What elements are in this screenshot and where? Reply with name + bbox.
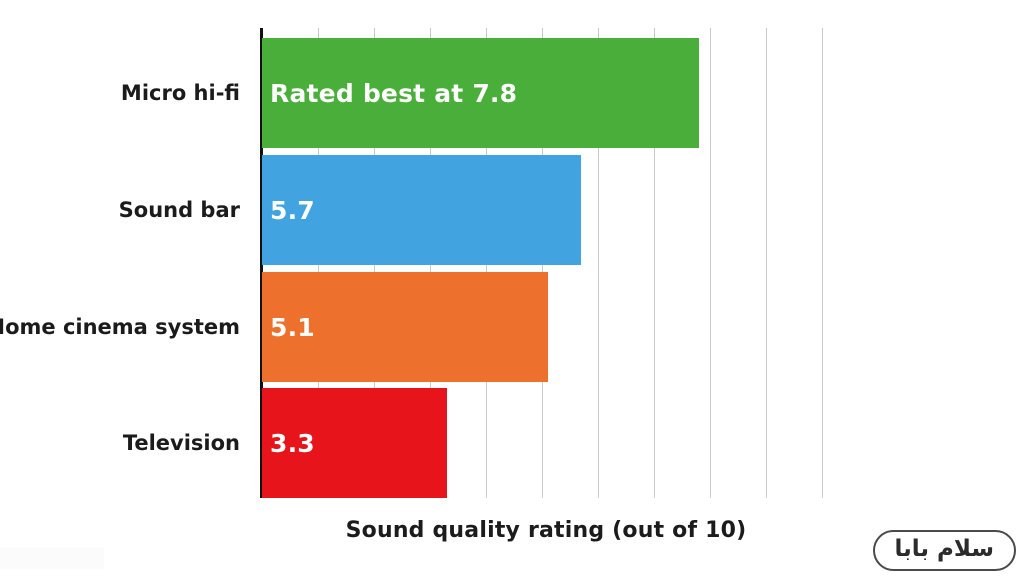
bars-layer: Rated best at 7.8 5.7 5.1 3.3 — [262, 0, 862, 579]
bar-micro-hi-fi[interactable]: Rated best at 7.8 — [262, 38, 699, 148]
corner-artifact — [0, 547, 104, 569]
watermark-badge: سلام بابا — [873, 530, 1017, 571]
bar-value-home-cinema-system: 5.1 — [262, 313, 315, 342]
bar-value-television: 3.3 — [262, 429, 315, 458]
bar-value-micro-hi-fi: Rated best at 7.8 — [262, 79, 517, 108]
category-label-home-cinema-system: Home cinema system — [0, 272, 252, 382]
bar-chart: Micro hi-fi Sound bar Home cinema system… — [0, 0, 1030, 579]
category-label-sound-bar: Sound bar — [0, 155, 252, 265]
x-axis-title: Sound quality rating (out of 10) — [262, 518, 830, 543]
bar-sound-bar[interactable]: 5.7 — [262, 155, 581, 265]
category-label-television: Television — [0, 388, 252, 498]
category-axis-labels: Micro hi-fi Sound bar Home cinema system… — [0, 0, 252, 579]
bar-home-cinema-system[interactable]: 5.1 — [262, 272, 548, 382]
bar-television[interactable]: 3.3 — [262, 388, 447, 498]
bar-value-sound-bar: 5.7 — [262, 196, 315, 225]
category-label-micro-hi-fi: Micro hi-fi — [0, 38, 252, 148]
